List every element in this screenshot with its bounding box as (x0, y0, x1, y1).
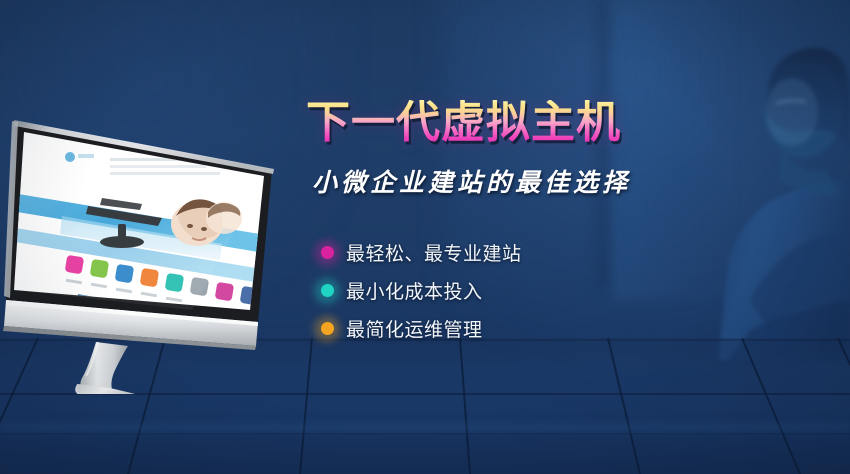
floor-light-band (0, 420, 850, 436)
bullet-dot-magenta-wrap (308, 239, 346, 267)
feature-item-2: 最小化成本投入 (308, 273, 706, 309)
feature-item-1: 最轻松、最专业建站 (308, 235, 706, 271)
feature-label-3: 最简化运维管理 (346, 315, 483, 342)
imac-monitor-graphic (0, 84, 284, 394)
bullet-dot-magenta (321, 246, 334, 259)
feature-list: 最轻松、最专业建站 最小化成本投入 最简化运维管理 (306, 235, 706, 347)
bullet-dot-orange (321, 322, 334, 335)
headline: 下一代虚拟主机 (306, 100, 706, 147)
feature-label-2: 最小化成本投入 (346, 277, 483, 304)
bullet-dot-orange-wrap (308, 315, 346, 343)
copy-block: 下一代虚拟主机 小微企业建站的最佳选择 最轻松、最专业建站 最小化成本投入 最简 (306, 100, 706, 349)
bullet-dot-teal (321, 284, 334, 297)
bullet-dot-teal-wrap (308, 277, 346, 305)
feature-label-1: 最轻松、最专业建站 (346, 239, 522, 266)
promo-banner: 下一代虚拟主机 小微企业建站的最佳选择 最轻松、最专业建站 最小化成本投入 最简 (0, 0, 850, 474)
feature-item-3: 最简化运维管理 (308, 311, 706, 347)
subheadline: 小微企业建站的最佳选择 (306, 163, 706, 199)
